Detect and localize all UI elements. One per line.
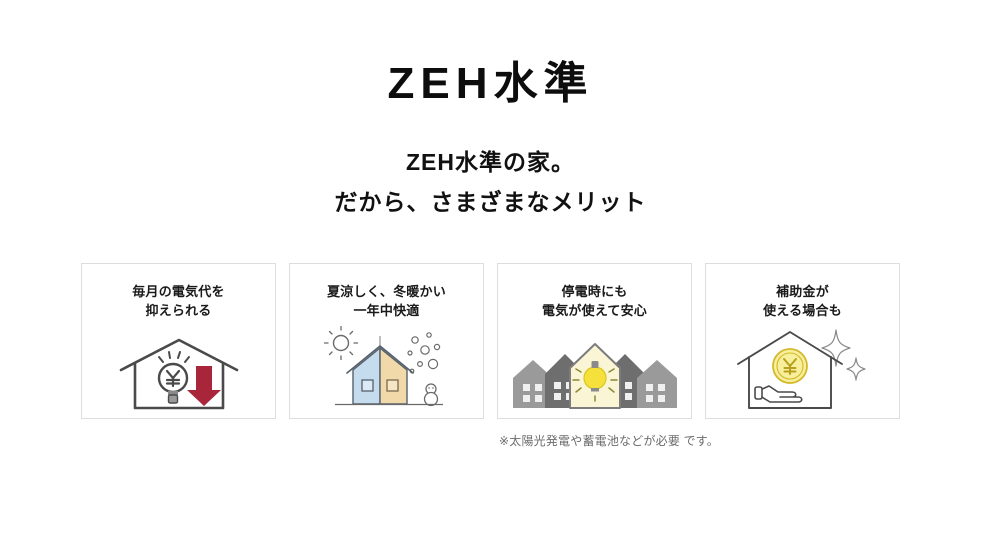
card-figure-comfort-all-year [290,326,483,412]
card-title-line-1: 夏涼しく、冬暖かい [327,282,446,301]
card-title-line-2: 抑えられる [132,301,224,320]
house-hand-yen-coin-sparkle-icon [736,324,870,412]
card-title-line-1: 補助金が [763,282,842,301]
neighborhood-lit-house-icon [509,340,681,412]
card-title-line-2: 使える場合も [763,301,842,320]
subtitle-line-2: だから、さまざまなメリット [0,182,981,222]
card-figure-blackout-safety [498,340,691,412]
card-title-electricity-cost: 毎月の電気代を 抑えられる [132,282,224,320]
benefit-card-subsidy-available: 補助金が 使える場合も [705,263,900,419]
zeh-standard-page: ZEH水準 ZEH水準の家。 だから、さまざまなメリット 毎月の電気代を 抑えら… [0,0,981,549]
card-title-line-2: 一年中快適 [327,301,446,320]
benefit-card-comfort-all-year: 夏涼しく、冬暖かい 一年中快適 [289,263,484,419]
card-figure-electricity-cost [82,336,275,412]
subtitle-line-1: ZEH水準の家。 [0,142,981,182]
benefit-card-electricity-cost: 毎月の電気代を 抑えられる [81,263,276,419]
house-bulb-yen-down-arrow-icon [117,336,241,412]
house-summer-winter-split-icon [317,326,457,412]
card-title-comfort-all-year: 夏涼しく、冬暖かい 一年中快適 [327,282,446,320]
card-title-blackout-safety: 停電時にも 電気が使えて安心 [542,282,647,320]
card-title-subsidy-available: 補助金が 使える場合も [763,282,842,320]
footnote: ※太陽光発電や蓄電池などが必要 です。 [499,432,759,451]
page-title: ZEH水準 [0,62,981,106]
card-title-line-2: 電気が使えて安心 [542,301,647,320]
footnote-line-2: です。 [684,434,719,448]
card-title-line-1: 停電時にも [542,282,647,301]
benefit-card-blackout-safety: 停電時にも 電気が使えて安心 [497,263,692,419]
card-title-line-1: 毎月の電気代を [132,282,224,301]
card-figure-subsidy-available [706,324,899,412]
page-subtitle: ZEH水準の家。 だから、さまざまなメリット [0,142,981,222]
benefit-card-list: 毎月の電気代を 抑えられる [81,263,900,419]
footnote-line-1: ※太陽光発電や蓄電池などが必要 [499,434,680,448]
